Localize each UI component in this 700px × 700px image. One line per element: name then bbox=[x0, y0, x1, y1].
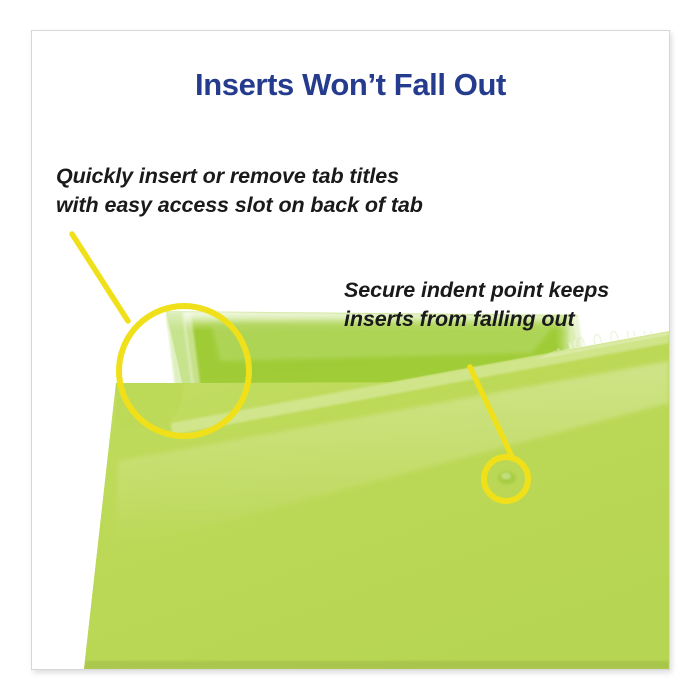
sheet-shadow bbox=[84, 661, 669, 669]
product-feature-panel: Inserts Won’t Fall Out Quickly insert or… bbox=[31, 30, 670, 670]
caption-line: inserts from falling out bbox=[344, 305, 609, 334]
callout-caption-access-slot: Quickly insert or remove tab titles with… bbox=[56, 162, 423, 219]
product-illustration bbox=[32, 31, 669, 669]
callout-caption-indent-point: Secure indent point keeps inserts from f… bbox=[344, 276, 609, 333]
product-photo bbox=[32, 31, 669, 669]
caption-line: Secure indent point keeps bbox=[344, 276, 609, 305]
indent-point bbox=[498, 472, 516, 485]
screenshot-canvas: Inserts Won’t Fall Out Quickly insert or… bbox=[0, 0, 700, 700]
page-title: Inserts Won’t Fall Out bbox=[32, 69, 669, 102]
caption-line: with easy access slot on back of tab bbox=[56, 191, 423, 220]
caption-line: Quickly insert or remove tab titles bbox=[56, 162, 423, 191]
